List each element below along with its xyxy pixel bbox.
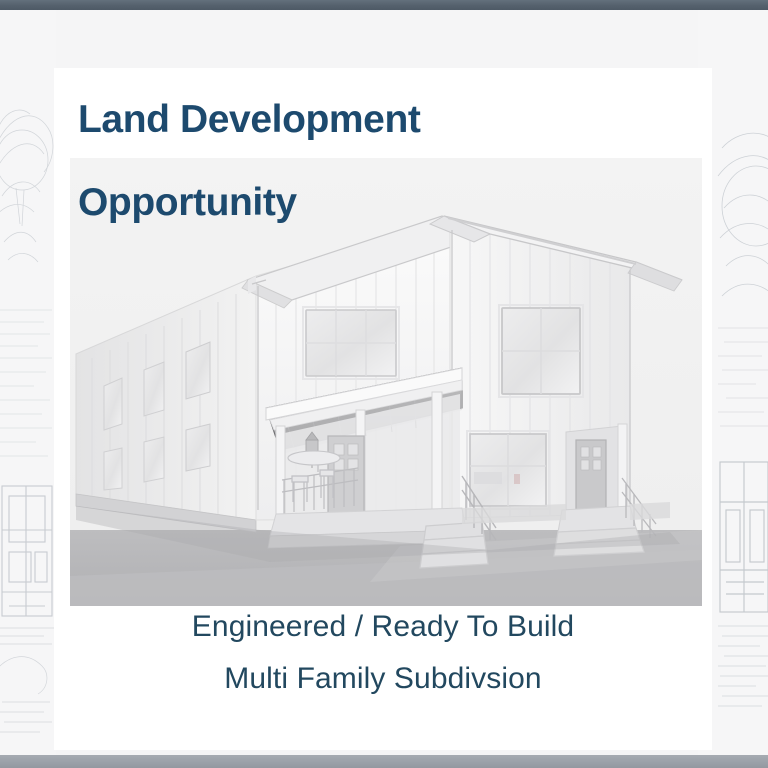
caption-line-1: Engineered / Ready To Build — [54, 612, 712, 642]
page-subtitle: Opportunity — [78, 181, 297, 225]
listing-card: Land Development Opportunity — [54, 68, 712, 750]
property-render-panel — [70, 158, 702, 606]
blueprint-texture-left — [0, 10, 56, 756]
caption-block: Engineered / Ready To Build Multi Family… — [54, 610, 712, 694]
page-title: Land Development — [78, 98, 421, 142]
bottom-accent-band — [0, 755, 768, 768]
blueprint-drawing-left-icon — [0, 10, 56, 756]
architectural-rendering-image — [70, 158, 702, 606]
caption-line-2: Multi Family Subdivsion — [54, 664, 712, 694]
top-accent-band — [0, 0, 768, 10]
listing-flyer-canvas: Land Development Opportunity — [0, 0, 768, 768]
